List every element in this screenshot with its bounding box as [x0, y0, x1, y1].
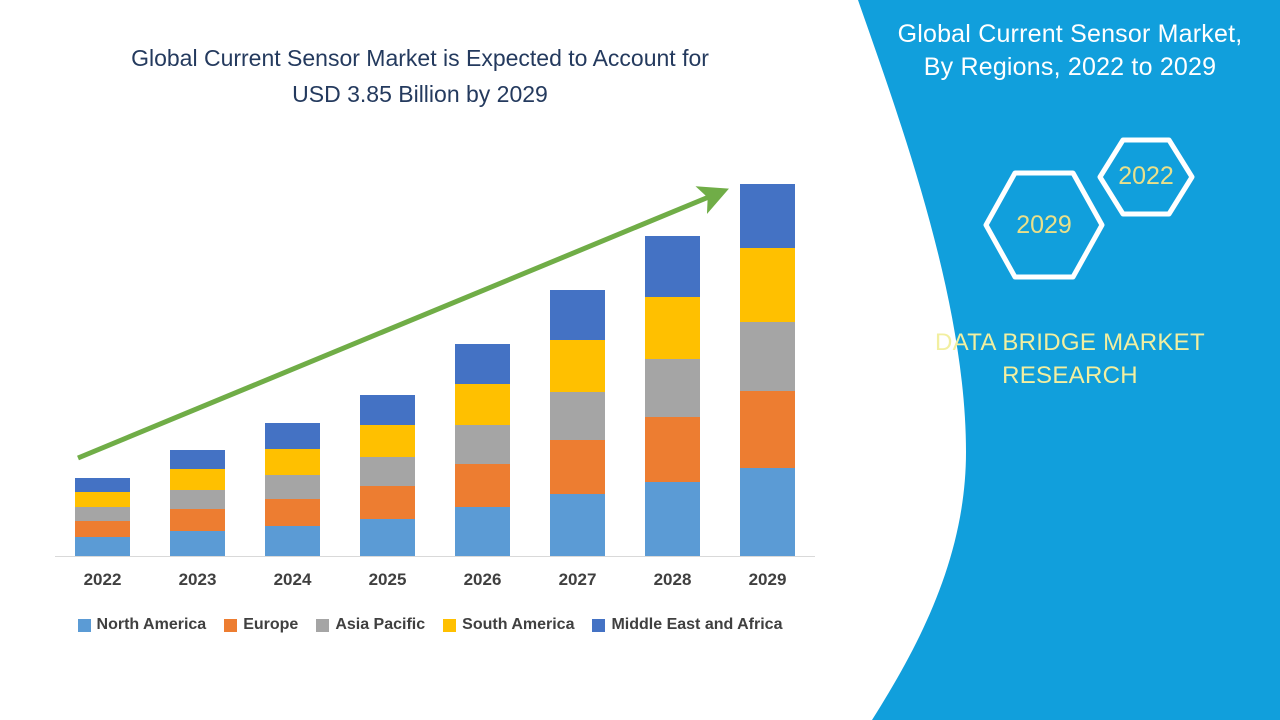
x-axis-line: [55, 556, 815, 557]
bar-segment: [360, 457, 415, 486]
bar-2026: [455, 344, 510, 556]
x-axis-label-2022: 2022: [63, 570, 143, 590]
hexagon-shapes: [860, 132, 1280, 282]
bar-segment: [360, 425, 415, 457]
bar-2023: [170, 450, 225, 556]
x-axis-labels: 20222023202420252026202720282029: [0, 570, 860, 598]
legend-label: South America: [462, 616, 574, 634]
bar-segment: [75, 492, 130, 507]
brand-name: DATA BRIDGE MARKET RESEARCH: [860, 326, 1280, 392]
bar-2029: [740, 184, 795, 556]
legend-label: Middle East and Africa: [611, 616, 782, 634]
panel-title-line2: By Regions, 2022 to 2029: [876, 51, 1264, 84]
bar-segment: [360, 486, 415, 519]
legend-item-3[interactable]: South America: [443, 616, 574, 634]
legend-label: Asia Pacific: [335, 616, 425, 634]
bar-segment: [455, 344, 510, 384]
bar-segment: [265, 475, 320, 499]
legend-swatch-icon: [316, 619, 329, 632]
x-axis-label-2029: 2029: [728, 570, 808, 590]
bar-segment: [170, 490, 225, 509]
chart-plot-area: 20222023202420252026202720282029 North A…: [0, 0, 860, 600]
bar-segment: [455, 464, 510, 507]
bar-segment: [645, 297, 700, 359]
x-axis-label-2026: 2026: [443, 570, 523, 590]
bar-2027: [550, 290, 605, 556]
bar-segment: [550, 340, 605, 392]
bar-segment: [645, 359, 700, 417]
bar-segment: [550, 494, 605, 556]
bar-segment: [455, 507, 510, 556]
bar-2025: [360, 395, 415, 556]
hexagon-group: 2022 2029: [860, 132, 1280, 282]
bar-segment: [455, 425, 510, 464]
hexagon-label-2022: 2022: [1106, 162, 1186, 191]
legend-item-0[interactable]: North America: [78, 616, 207, 634]
bar-segment: [740, 391, 795, 468]
bar-segment: [265, 423, 320, 449]
bar-segment: [75, 507, 130, 521]
x-axis-label-2027: 2027: [538, 570, 618, 590]
bar-segment: [360, 395, 415, 425]
hexagon-label-2029: 2029: [1004, 211, 1084, 240]
panel-title-line1: Global Current Sensor Market,: [876, 18, 1264, 51]
legend-label: North America: [97, 616, 207, 634]
bar-segment: [170, 531, 225, 556]
bar-segment: [75, 537, 130, 556]
x-axis-label-2024: 2024: [253, 570, 333, 590]
bar-2024: [265, 423, 320, 556]
bar-segment: [455, 384, 510, 425]
slide-canvas: Global Current Sensor Market, By Regions…: [0, 0, 1280, 720]
bar-segment: [265, 449, 320, 475]
bar-segment: [550, 392, 605, 440]
legend-swatch-icon: [592, 619, 605, 632]
bar-segment: [170, 509, 225, 531]
bar-segment: [265, 526, 320, 556]
legend-item-2[interactable]: Asia Pacific: [316, 616, 425, 634]
panel-content: Global Current Sensor Market, By Regions…: [860, 0, 1280, 720]
bar-segment: [170, 469, 225, 490]
legend-swatch-icon: [224, 619, 237, 632]
bar-segment: [645, 417, 700, 482]
bar-segment: [645, 482, 700, 556]
bar-segment: [550, 440, 605, 494]
x-axis-label-2028: 2028: [633, 570, 713, 590]
legend-item-1[interactable]: Europe: [224, 616, 298, 634]
bar-segment: [740, 248, 795, 322]
bar-segment: [265, 499, 320, 526]
bar-segment: [75, 521, 130, 537]
bar-segment: [740, 468, 795, 556]
bar-segment: [740, 322, 795, 391]
legend-label: Europe: [243, 616, 298, 634]
brand-line2: RESEARCH: [860, 359, 1280, 392]
bar-segment: [75, 478, 130, 492]
panel-title: Global Current Sensor Market, By Regions…: [860, 18, 1280, 84]
x-axis-label-2023: 2023: [158, 570, 238, 590]
bar-segment: [550, 290, 605, 340]
bar-segment: [740, 184, 795, 248]
bar-segment: [360, 519, 415, 556]
legend-swatch-icon: [78, 619, 91, 632]
x-axis-label-2025: 2025: [348, 570, 428, 590]
bar-2022: [75, 478, 130, 556]
chart-legend: North AmericaEuropeAsia PacificSouth Ame…: [0, 616, 860, 634]
bar-segment: [645, 236, 700, 297]
bar-2028: [645, 236, 700, 556]
legend-item-4[interactable]: Middle East and Africa: [592, 616, 782, 634]
bar-segment: [170, 450, 225, 469]
legend-swatch-icon: [443, 619, 456, 632]
brand-line1: DATA BRIDGE MARKET: [860, 326, 1280, 359]
